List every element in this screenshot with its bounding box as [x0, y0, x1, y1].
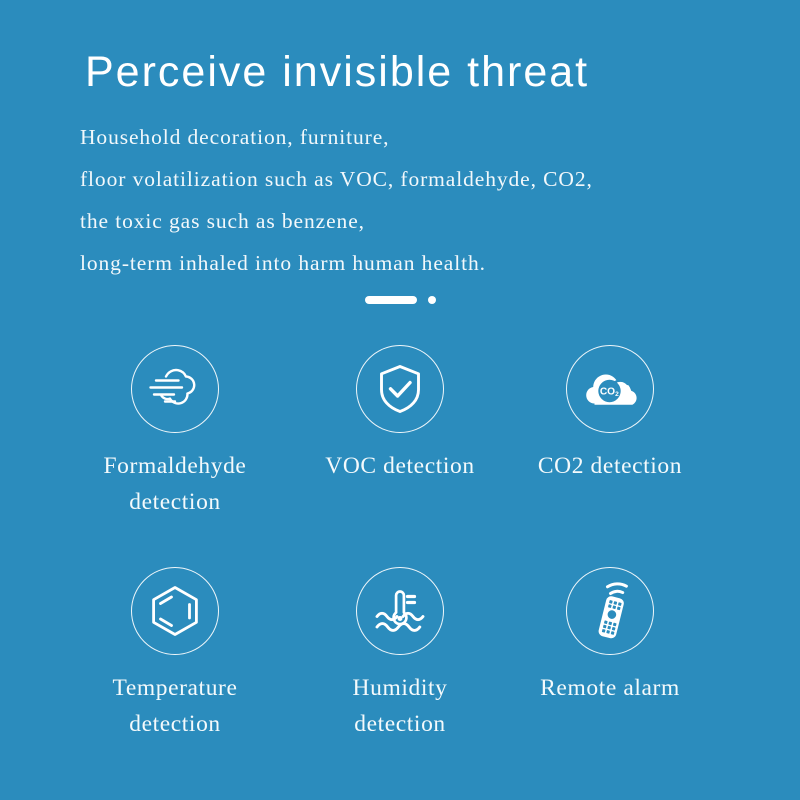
- intro-line-3: the toxic gas such as benzene,: [80, 200, 780, 242]
- feature-item-co2-detection[interactable]: CO2 CO2 detection: [510, 345, 710, 484]
- feature-label-line-1: Formaldehyde: [104, 453, 247, 479]
- feature-label: Remote alarm: [510, 670, 710, 706]
- feature-label: CO2 detection: [510, 448, 710, 484]
- promo-banner: Perceive invisible threat Household deco…: [0, 0, 800, 800]
- feature-item-voc-detection[interactable]: VOC detection: [300, 345, 500, 484]
- feature-item-remote-alarm[interactable]: Remote alarm: [510, 567, 710, 706]
- intro-line-2: floor volatilization such as VOC, formal…: [80, 158, 780, 200]
- intro-line-4: long-term inhaled into harm human health…: [80, 242, 780, 284]
- benzene-hexagon-icon: [131, 567, 219, 655]
- carousel-inactive-indicator[interactable]: [428, 296, 436, 304]
- feature-label-line-2: detection: [129, 489, 221, 515]
- feature-label-line-1: Temperature: [113, 675, 238, 701]
- carousel-indicator[interactable]: [0, 293, 800, 307]
- page-title: Perceive invisible threat: [85, 46, 765, 98]
- intro-paragraph: Household decoration, furniture, floor v…: [80, 116, 780, 284]
- co2-cloud-icon: CO2: [566, 345, 654, 433]
- feature-row: Formaldehyde detection VOC detection: [0, 345, 800, 567]
- feature-grid: Formaldehyde detection VOC detection: [0, 345, 800, 789]
- feature-label-line-2: detection: [129, 711, 221, 737]
- carousel-active-indicator[interactable]: [365, 296, 417, 304]
- remote-signal-icon: [566, 567, 654, 655]
- thermometer-water-icon: [356, 567, 444, 655]
- feature-row: Temperature detection: [0, 567, 800, 789]
- gas-cloud-icon: [131, 345, 219, 433]
- feature-item-humidity-detection[interactable]: Humidity detection: [300, 567, 500, 742]
- feature-item-temperature-detection[interactable]: Temperature detection: [75, 567, 275, 742]
- feature-label-line-1: Humidity: [353, 675, 448, 701]
- feature-label-line-1: VOC detection: [325, 453, 474, 479]
- feature-label-line-2: detection: [354, 711, 446, 737]
- shield-check-icon: [356, 345, 444, 433]
- feature-label-line-1: Remote alarm: [540, 675, 680, 701]
- feature-label: VOC detection: [300, 448, 500, 484]
- intro-line-1: Household decoration, furniture,: [80, 116, 780, 158]
- feature-label-line-1: CO2 detection: [538, 453, 682, 479]
- feature-label: Formaldehyde detection: [80, 448, 270, 520]
- feature-label: Temperature detection: [80, 670, 270, 742]
- feature-item-formaldehyde-detection[interactable]: Formaldehyde detection: [75, 345, 275, 520]
- feature-label: Humidity detection: [305, 670, 495, 742]
